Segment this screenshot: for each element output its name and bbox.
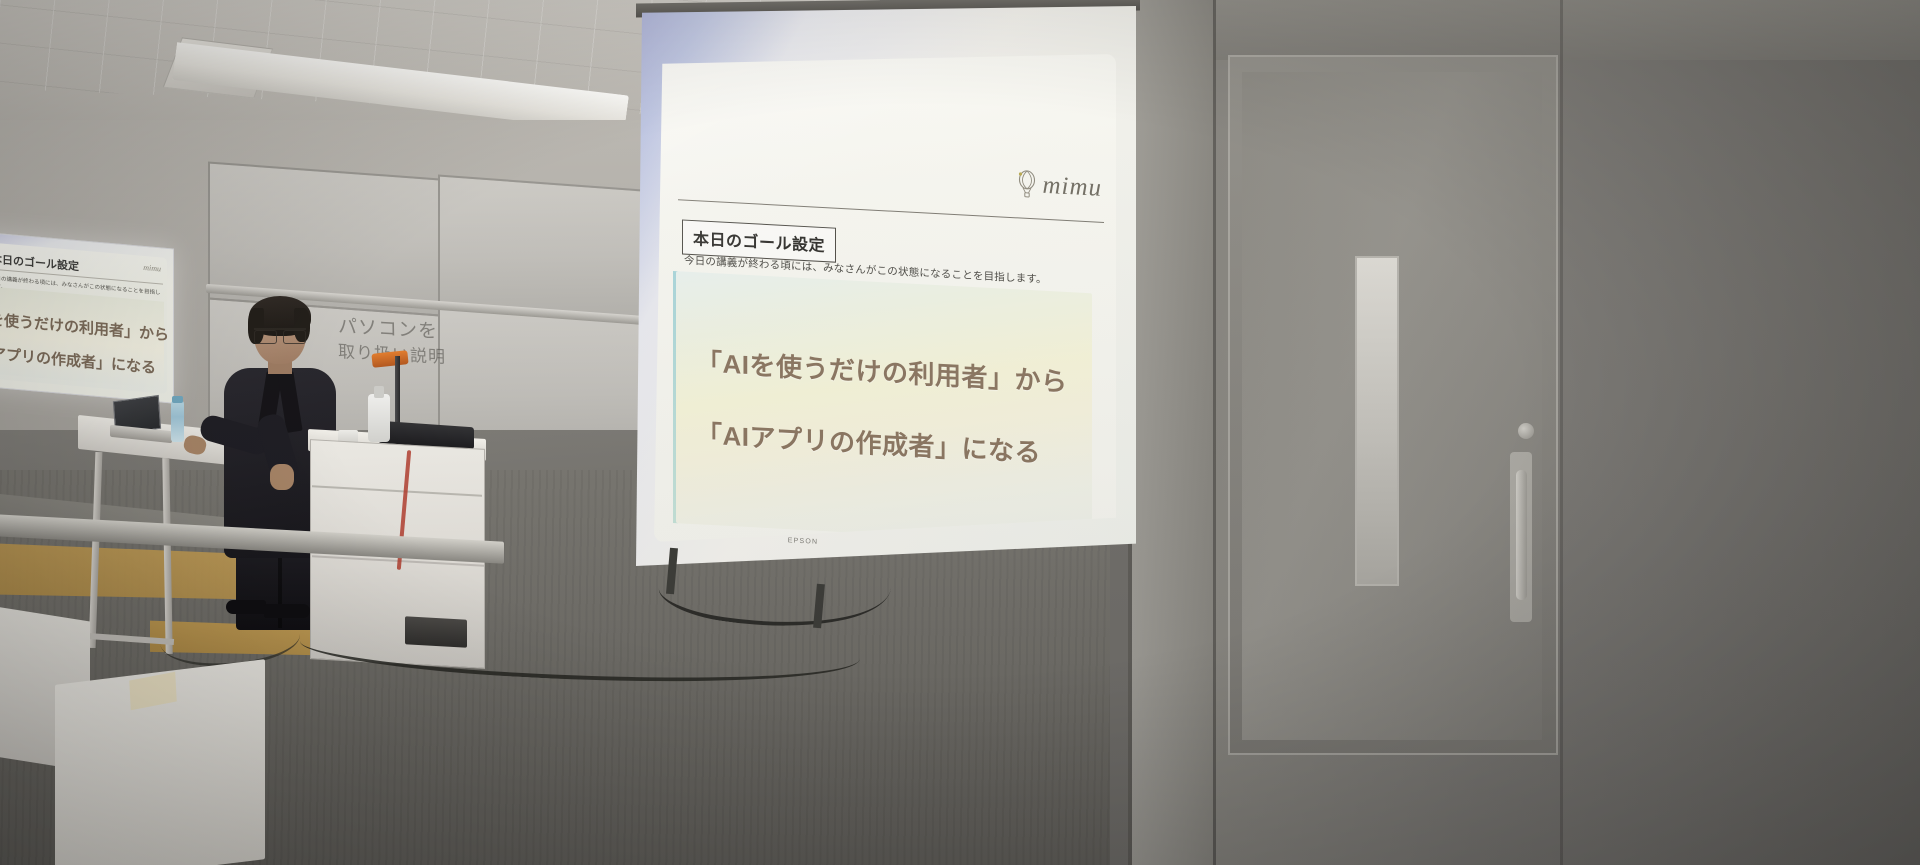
lecture-room-photo: パソコンを 取り扱い説明 本日のゴール設定 mimu 今日の講義が終わる頃には、… <box>0 0 1920 865</box>
presenter-hand-right <box>270 464 294 490</box>
slide-canvas: mimu 本日のゴール設定 今日の講義が終わる頃には、みなさんがこの状態になるこ… <box>654 54 1116 542</box>
eyeglasses-icon <box>254 328 306 341</box>
projection-screen: mimu 本日のゴール設定 今日の講義が終わる頃には、みなさんがこの状態になるこ… <box>636 6 1136 566</box>
wall-knob[interactable] <box>1518 423 1534 439</box>
wall-seam-right <box>1560 0 1563 865</box>
secondary-slide-logo: mimu <box>143 263 161 274</box>
door-handle[interactable] <box>1516 470 1527 600</box>
hand-sanitizer-pump <box>374 386 384 398</box>
right-wall-ceiling-band <box>1128 0 1920 60</box>
whiteboard-panel-upper-right <box>438 174 643 323</box>
water-bottle <box>171 400 184 442</box>
hand-sanitizer-bottle <box>368 394 390 442</box>
slide-logo-word: mimu <box>1042 172 1102 203</box>
slide-highlight-band <box>676 271 1092 545</box>
wall-seam-mid <box>1213 0 1216 865</box>
secondary-projection-screen: 本日のゴール設定 mimu 今日の講義が終わる頃には、みなさんがこの状態になるこ… <box>0 231 174 403</box>
slide-logo: mimu <box>1016 169 1102 204</box>
water-bottle-cap <box>172 396 183 403</box>
wall-pillar <box>1128 0 1214 865</box>
hot-air-balloon-icon <box>1016 169 1038 200</box>
door-window <box>1355 256 1399 586</box>
slide-title: 本日のゴール設定 <box>693 231 825 255</box>
secondary-slide: 本日のゴール設定 mimu 今日の講義が終わる頃には、みなさんがこの状態になるこ… <box>0 242 167 394</box>
slide: mimu 本日のゴール設定 今日の講義が終わる頃には、みなさんがこの状態になるこ… <box>654 54 1116 567</box>
slide-header-rule <box>678 199 1104 223</box>
